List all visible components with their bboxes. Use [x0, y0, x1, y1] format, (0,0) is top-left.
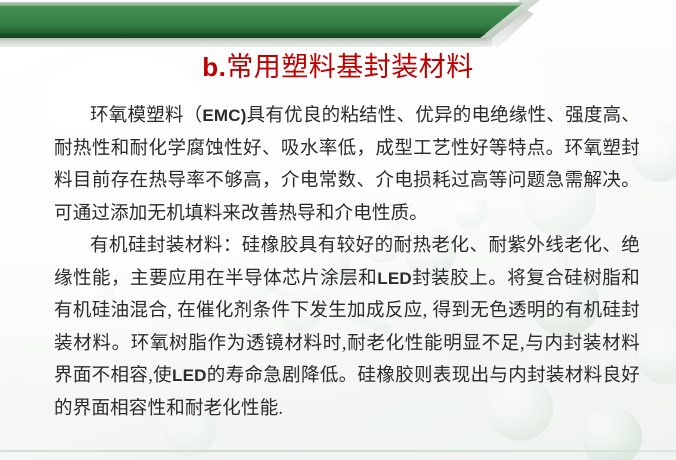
text-run: 环氧模塑料（	[90, 106, 202, 126]
slide-body: 环氧模塑料（EMC)具有优良的粘结性、优异的电绝缘性、强度高、耐热性和耐化学腐蚀…	[36, 100, 640, 425]
presentation-slide: b.常用塑料基封装材料 环氧模塑料（EMC)具有优良的粘结性、优异的电绝缘性、强…	[0, 0, 676, 460]
text-run: EMC)	[202, 106, 246, 125]
text-run: LED	[377, 269, 412, 288]
slide-title-prefix: b.	[202, 52, 226, 82]
top-green-banner	[0, 0, 676, 52]
paragraph-silicone: 有机硅封装材料：硅橡胶具有较好的耐热老化、耐紫外线老化、绝缘性能，主要应用在半导…	[36, 230, 640, 425]
text-run: LED	[172, 366, 207, 385]
slide-title-text: 常用塑料基封装材料	[226, 52, 474, 82]
bottom-divider-rule	[0, 450, 676, 452]
slide-title: b.常用塑料基封装材料	[0, 50, 676, 84]
paragraph-emc: 环氧模塑料（EMC)具有优良的粘结性、优异的电绝缘性、强度高、耐热性和耐化学腐蚀…	[36, 100, 640, 230]
